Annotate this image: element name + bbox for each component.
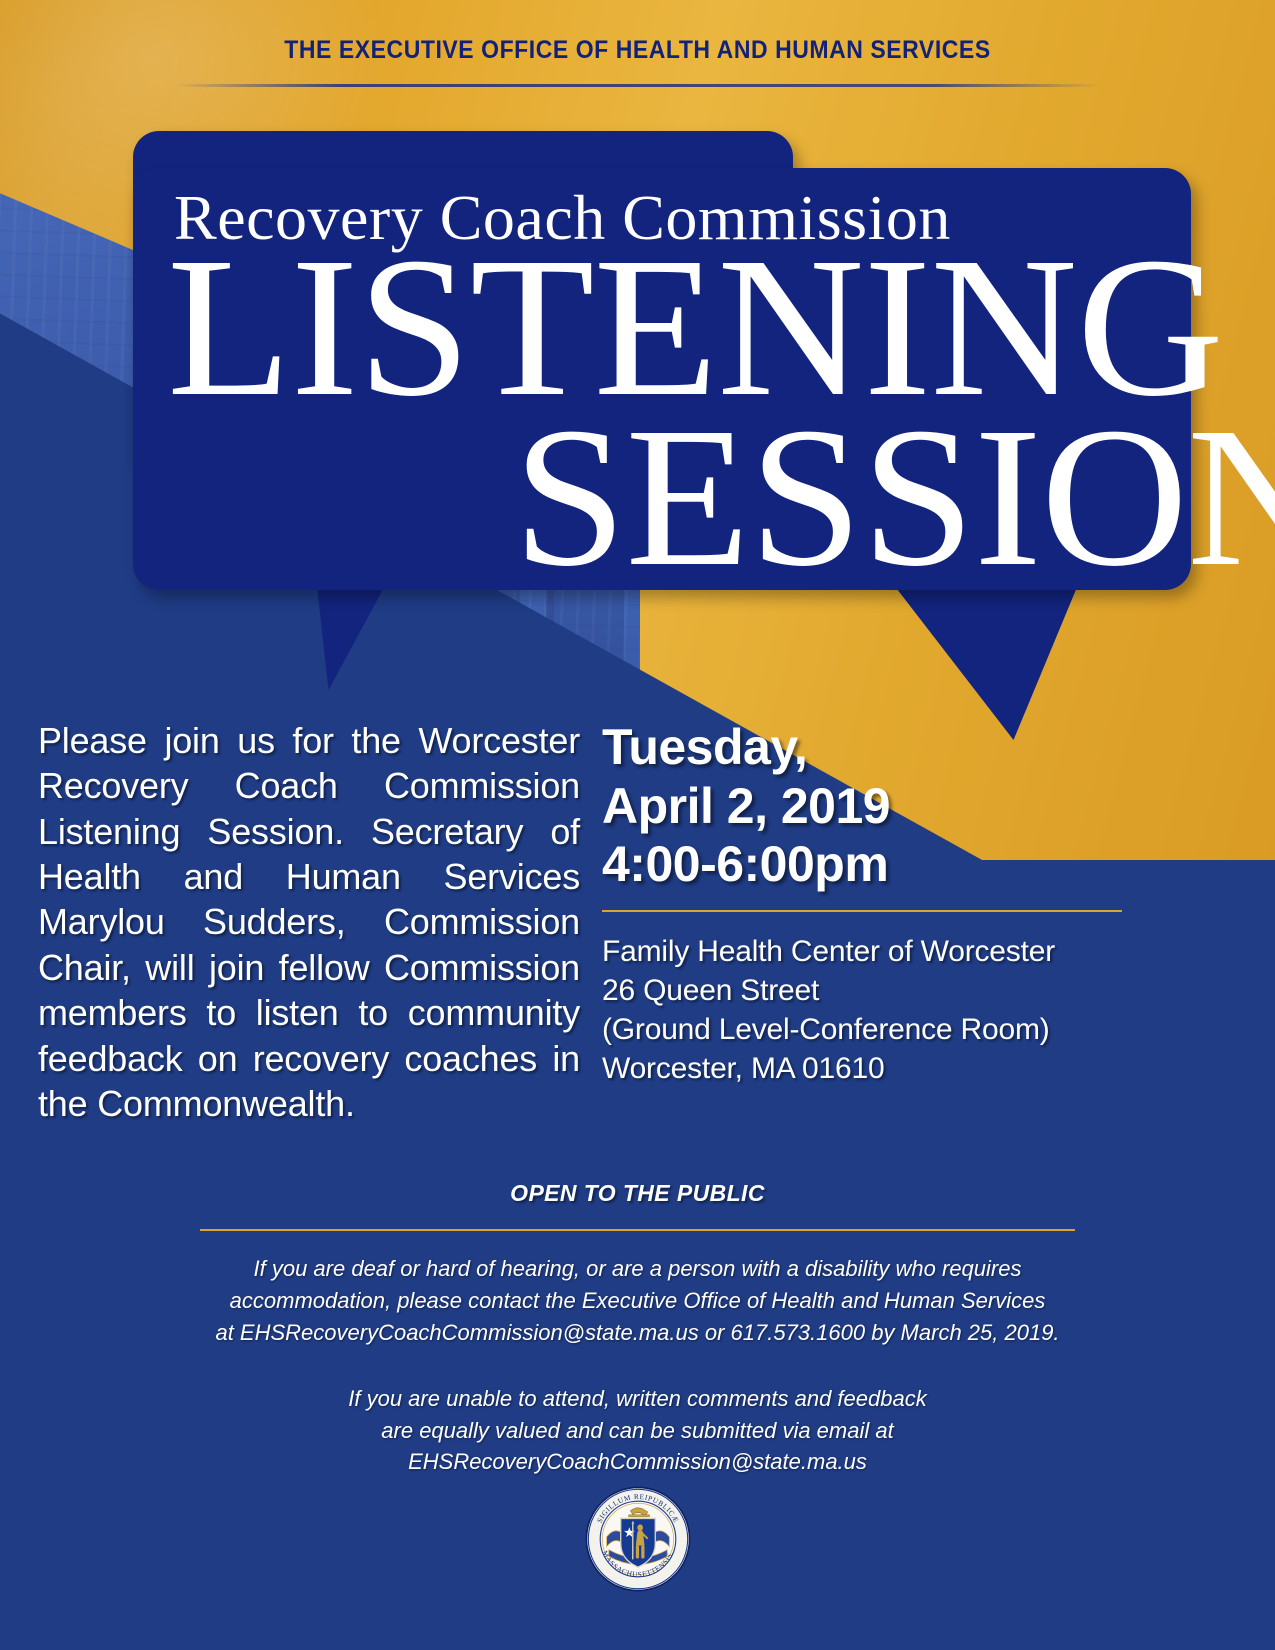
poster-title: Recovery Coach Commission LISTENING SESS… [133, 168, 1191, 590]
intro-paragraph: Please join us for the Worcester Recover… [38, 718, 580, 1126]
content-columns: Please join us for the Worcester Recover… [0, 718, 1275, 1126]
footer-section: OPEN TO THE PUBLIC If you are deaf or ha… [0, 1180, 1275, 1478]
poster-canvas: THE EXECUTIVE OFFICE OF HEALTH AND HUMAN… [0, 0, 1275, 1650]
description-column: Please join us for the Worcester Recover… [0, 718, 580, 1126]
accommodation-note: If you are deaf or hard of hearing, or a… [0, 1253, 1275, 1349]
main-content: Please join us for the Worcester Recover… [0, 718, 1275, 1126]
footer-divider [200, 1229, 1075, 1231]
event-date-time: Tuesday, April 2, 2019 4:00-6:00pm [602, 718, 1180, 894]
agency-header: THE EXECUTIVE OFFICE OF HEALTH AND HUMAN… [0, 36, 1275, 65]
massachusetts-state-seal-icon: SIGILLUM REIPUBLICÆ MASSACHUSETTENSIS. [584, 1485, 692, 1598]
title-word-session: SESSION [513, 406, 1275, 590]
event-divider [602, 910, 1122, 912]
header-divider [175, 84, 1100, 87]
event-location: Family Health Center of Worcester 26 Que… [602, 932, 1180, 1088]
agency-name: THE EXECUTIVE OFFICE OF HEALTH AND HUMAN… [51, 36, 1224, 65]
open-to-public-badge: OPEN TO THE PUBLIC [0, 1180, 1275, 1207]
written-comments-note: If you are unable to attend, written com… [0, 1383, 1275, 1479]
event-details-column: Tuesday, April 2, 2019 4:00-6:00pm Famil… [580, 718, 1180, 1088]
seal-container: SIGILLUM REIPUBLICÆ MASSACHUSETTENSIS. [0, 1485, 1275, 1598]
